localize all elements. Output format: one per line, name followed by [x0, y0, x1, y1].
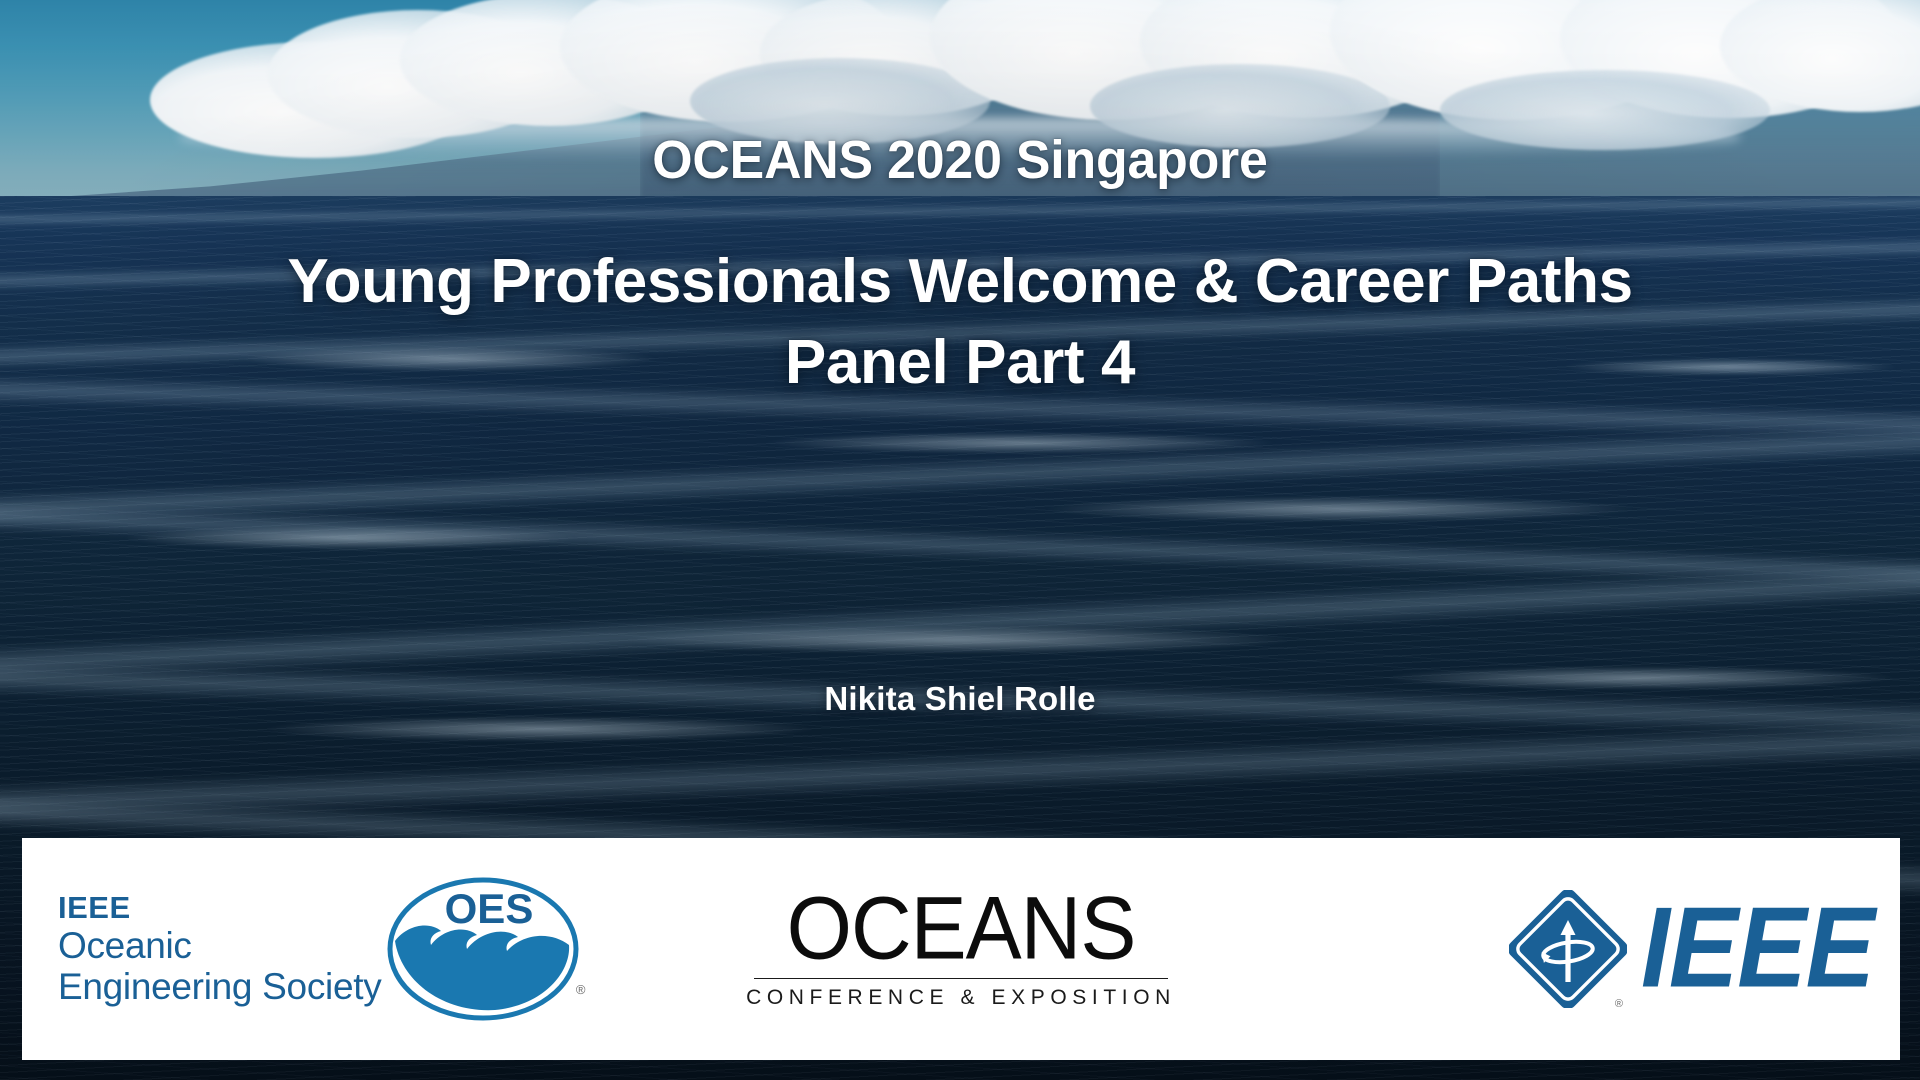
- ieee-registered-mark: ®: [1615, 998, 1623, 1010]
- oes-line-3: Engineering Society: [58, 967, 381, 1008]
- session-title-line-1: Young Professionals Welcome & Career Pat…: [60, 242, 1860, 323]
- oes-wave-ellipse-icon: OES ®: [385, 875, 581, 1023]
- conference-title: OCEANS 2020 Singapore: [38, 132, 1881, 189]
- oes-registered-mark: ®: [576, 982, 586, 997]
- oceans-logo-cell: OCEANS CONFERENCE & EXPOSITION: [642, 888, 1281, 1010]
- svg-text:OES: OES: [445, 885, 534, 932]
- oceans-conference-logo: OCEANS CONFERENCE & EXPOSITION: [746, 888, 1176, 1010]
- ieee-master-logo: ® IEEE: [1509, 890, 1874, 1008]
- footer-logo-bar: IEEE Oceanic Engineering Society OES ® O…: [22, 838, 1900, 1060]
- oes-line-2: Oceanic: [58, 926, 381, 967]
- ieee-wordmark: IEEE: [1641, 900, 1874, 998]
- session-title-line-2: Panel Part 4: [60, 323, 1860, 404]
- oes-ieee-label: IEEE: [58, 891, 381, 925]
- speaker-name: Nikita Shiel Rolle: [0, 680, 1920, 718]
- session-title: Young Professionals Welcome & Career Pat…: [60, 242, 1860, 403]
- oes-logo-cell: IEEE Oceanic Engineering Society OES ®: [22, 875, 642, 1023]
- ieee-logo-cell: ® IEEE: [1280, 890, 1900, 1008]
- ieee-oes-logo: IEEE Oceanic Engineering Society OES ®: [58, 875, 581, 1023]
- oceans-tagline: CONFERENCE & EXPOSITION: [746, 986, 1176, 1010]
- oes-wordmark: IEEE Oceanic Engineering Society: [58, 891, 381, 1007]
- oceans-wordmark: OCEANS: [746, 886, 1176, 971]
- ieee-diamond-kite-icon: ®: [1509, 890, 1627, 1008]
- title-slide: OCEANS 2020 Singapore Young Professional…: [0, 0, 1920, 1080]
